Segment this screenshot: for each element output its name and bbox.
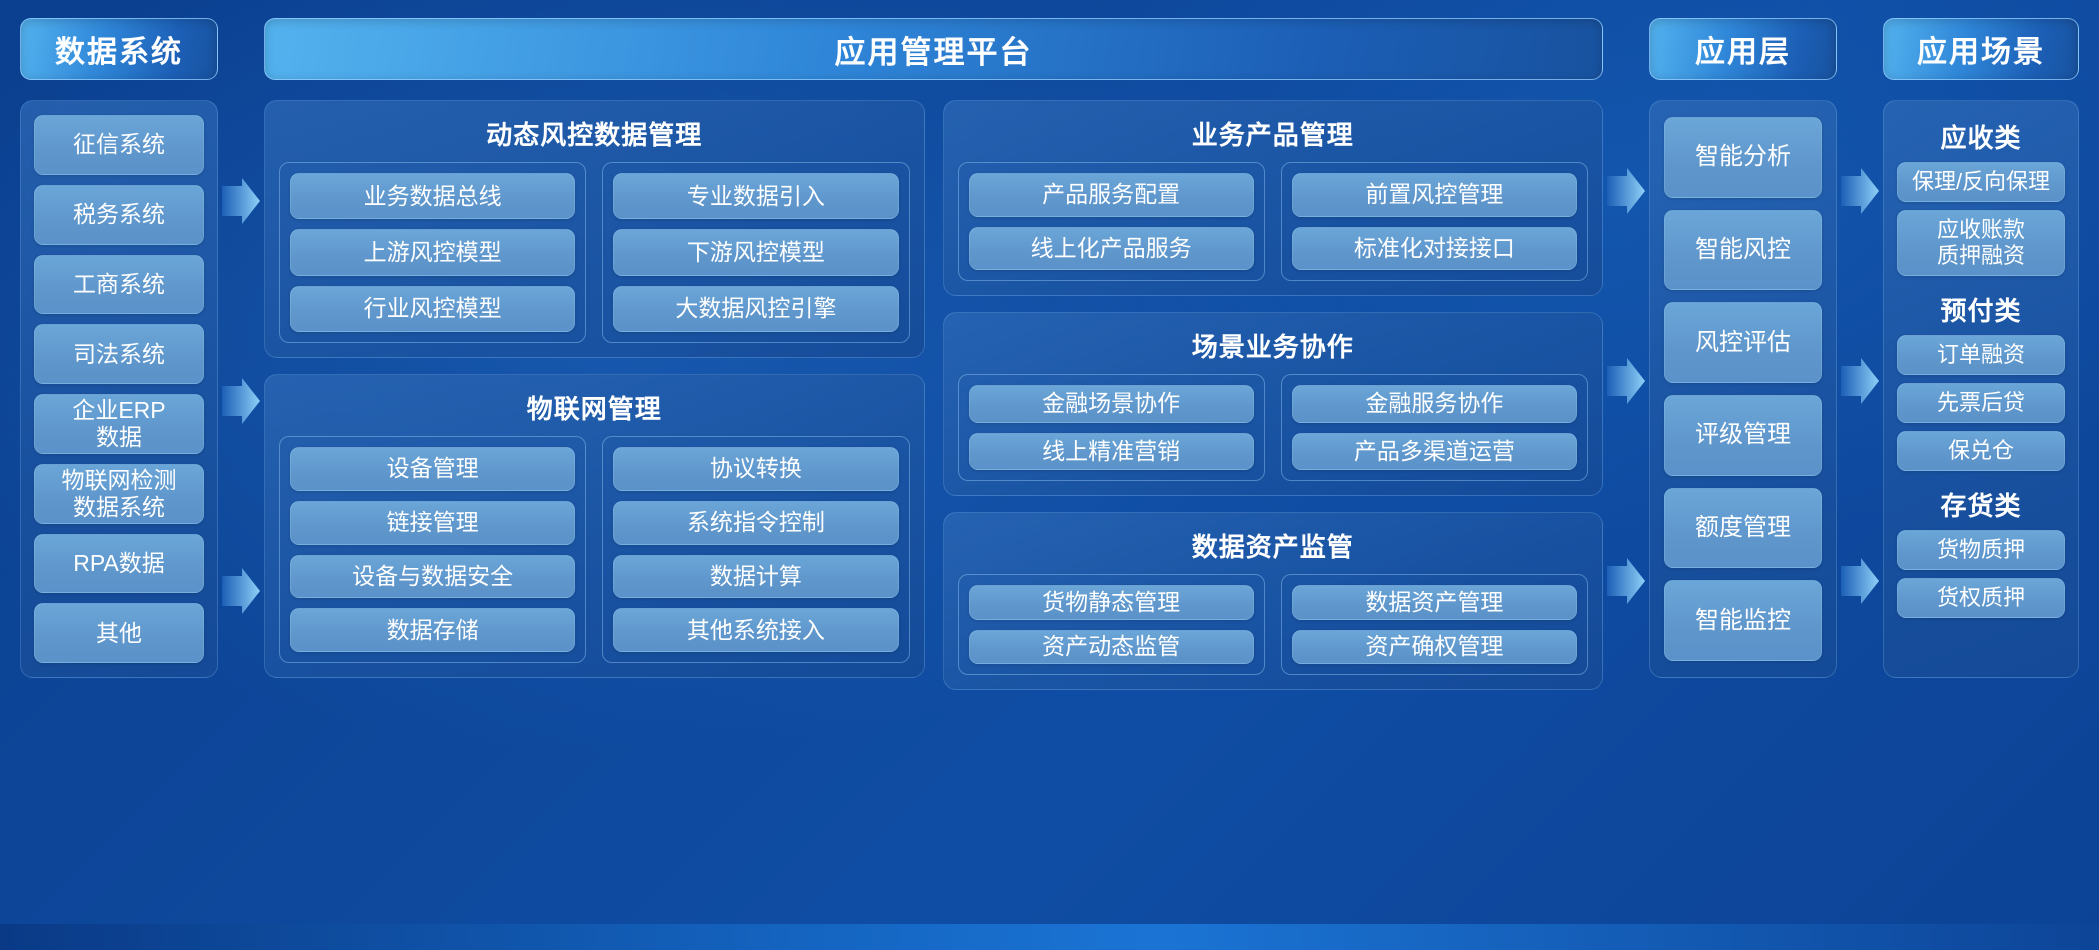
group-subcolumn-right: 专业数据引入 下游风控模型 大数据风控引擎 xyxy=(602,162,909,343)
app-layer-item[interactable]: 智能风控 xyxy=(1664,210,1822,291)
group-title: 数据资产监管 xyxy=(958,523,1589,574)
arrow-group-layer-to-scene xyxy=(1837,18,1883,950)
scene-item[interactable]: 保兑仓 xyxy=(1897,431,2065,471)
platform-item[interactable]: 产品多渠道运营 xyxy=(1292,433,1577,471)
data-system-item[interactable]: RPA数据 xyxy=(34,534,204,594)
group-data-asset-supervision: 数据资产监管 货物静态管理 资产动态监管 数据资产管理 资产确权管理 xyxy=(943,512,1604,690)
data-system-panel: 征信系统 税务系统 工商系统 司法系统 企业ERP数据 物联网检测数据系统 RP… xyxy=(20,100,218,678)
data-system-item[interactable]: 征信系统 xyxy=(34,115,204,175)
app-layer-panel: 智能分析 智能风控 风控评估 评级管理 额度管理 智能监控 xyxy=(1649,100,1837,678)
platform-item[interactable]: 系统指令控制 xyxy=(613,501,898,545)
column-header-platform: 应用管理平台 xyxy=(264,18,1603,80)
group-subcolumn-right: 数据资产管理 资产确权管理 xyxy=(1281,574,1588,675)
platform-item[interactable]: 大数据风控引擎 xyxy=(613,286,898,332)
app-layer-item[interactable]: 风控评估 xyxy=(1664,302,1822,383)
scene-item[interactable]: 先票后贷 xyxy=(1897,383,2065,423)
arrow-right-icon xyxy=(222,378,260,424)
group-subcolumn-left: 产品服务配置 线上化产品服务 xyxy=(958,162,1265,281)
group-subcolumn-left: 金融场景协作 线上精准营销 xyxy=(958,374,1265,481)
platform-left-side: 动态风控数据管理 业务数据总线 上游风控模型 行业风控模型 专业数据引入 下游风… xyxy=(264,100,925,678)
arrow-right-icon xyxy=(1841,558,1879,604)
platform-item[interactable]: 标准化对接接口 xyxy=(1292,227,1577,271)
group-subcolumn-left: 业务数据总线 上游风控模型 行业风控模型 xyxy=(279,162,586,343)
platform-item[interactable]: 业务数据总线 xyxy=(290,173,575,219)
platform-item[interactable]: 数据计算 xyxy=(613,555,898,599)
platform-item[interactable]: 金融服务协作 xyxy=(1292,385,1577,423)
scene-item[interactable]: 订单融资 xyxy=(1897,335,2065,375)
platform-item[interactable]: 设备管理 xyxy=(290,447,575,491)
scene-item[interactable]: 应收账款质押融资 xyxy=(1897,210,2065,276)
data-system-item[interactable]: 物联网检测数据系统 xyxy=(34,464,204,524)
app-scene-panel: 应收类 保理/反向保理 应收账款质押融资 预付类 订单融资 先票后贷 保兑仓 存… xyxy=(1883,100,2079,678)
app-layer-item[interactable]: 评级管理 xyxy=(1664,395,1822,476)
arrow-right-icon xyxy=(1607,168,1645,214)
data-system-item[interactable]: 企业ERP数据 xyxy=(34,394,204,454)
scene-item[interactable]: 保理/反向保理 xyxy=(1897,162,2065,202)
column-app-layer: 应用层 智能分析 智能风控 风控评估 评级管理 额度管理 智能监控 xyxy=(1649,18,1837,678)
group-dynamic-risk-data: 动态风控数据管理 业务数据总线 上游风控模型 行业风控模型 专业数据引入 下游风… xyxy=(264,100,925,358)
data-system-item[interactable]: 工商系统 xyxy=(34,255,204,315)
platform-item[interactable]: 链接管理 xyxy=(290,501,575,545)
scene-group-inventory: 存货类 货物质押 货权质押 xyxy=(1897,477,2065,618)
column-header-data-system: 数据系统 xyxy=(20,18,218,80)
platform-item[interactable]: 数据存储 xyxy=(290,608,575,652)
group-subcolumn-left: 货物静态管理 资产动态监管 xyxy=(958,574,1265,675)
column-header-app-scene: 应用场景 xyxy=(1883,18,2079,80)
scene-group-prepaid: 预付类 订单融资 先票后贷 保兑仓 xyxy=(1897,282,2065,471)
platform-item[interactable]: 资产动态监管 xyxy=(969,630,1254,665)
platform-item[interactable]: 设备与数据安全 xyxy=(290,555,575,599)
app-layer-item[interactable]: 额度管理 xyxy=(1664,488,1822,569)
arrow-right-icon xyxy=(1841,358,1879,404)
scene-group-receivable: 应收类 保理/反向保理 应收账款质押融资 xyxy=(1897,109,2065,276)
data-system-item[interactable]: 税务系统 xyxy=(34,185,204,245)
data-system-item[interactable]: 司法系统 xyxy=(34,324,204,384)
arrow-right-icon xyxy=(222,178,260,224)
app-layer-item[interactable]: 智能分析 xyxy=(1664,117,1822,198)
arrow-right-icon xyxy=(1607,358,1645,404)
data-system-item[interactable]: 其他 xyxy=(34,603,204,663)
app-layer-item[interactable]: 智能监控 xyxy=(1664,580,1822,661)
platform-item[interactable]: 其他系统接入 xyxy=(613,608,898,652)
scene-group-title: 存货类 xyxy=(1897,477,2065,530)
platform-item[interactable]: 货物静态管理 xyxy=(969,585,1254,620)
platform-item[interactable]: 下游风控模型 xyxy=(613,229,898,275)
platform-item[interactable]: 资产确权管理 xyxy=(1292,630,1577,665)
arrow-right-icon xyxy=(1607,558,1645,604)
platform-item[interactable]: 线上精准营销 xyxy=(969,433,1254,471)
group-subcolumn-right: 协议转换 系统指令控制 数据计算 其他系统接入 xyxy=(602,436,909,663)
group-scene-business-collaboration: 场景业务协作 金融场景协作 线上精准营销 金融服务协作 产品多渠道运营 xyxy=(943,312,1604,496)
group-title: 业务产品管理 xyxy=(958,111,1589,162)
platform-item[interactable]: 数据资产管理 xyxy=(1292,585,1577,620)
group-iot-management: 物联网管理 设备管理 链接管理 设备与数据安全 数据存储 协议转换 系统指令控制… xyxy=(264,374,925,678)
group-subcolumn-left: 设备管理 链接管理 设备与数据安全 数据存储 xyxy=(279,436,586,663)
group-subcolumn-right: 金融服务协作 产品多渠道运营 xyxy=(1281,374,1588,481)
arrow-right-icon xyxy=(222,568,260,614)
architecture-diagram: 数据系统 征信系统 税务系统 工商系统 司法系统 企业ERP数据 物联网检测数据… xyxy=(0,0,2099,950)
platform-item[interactable]: 线上化产品服务 xyxy=(969,227,1254,271)
bottom-accent-strip xyxy=(0,924,2099,950)
column-data-system: 数据系统 征信系统 税务系统 工商系统 司法系统 企业ERP数据 物联网检测数据… xyxy=(20,18,218,678)
group-title: 动态风控数据管理 xyxy=(279,111,910,162)
platform-item[interactable]: 产品服务配置 xyxy=(969,173,1254,217)
column-app-scene: 应用场景 应收类 保理/反向保理 应收账款质押融资 预付类 订单融资 先票后贷 … xyxy=(1883,18,2079,678)
scene-item[interactable]: 货物质押 xyxy=(1897,530,2065,570)
scene-item[interactable]: 货权质押 xyxy=(1897,578,2065,618)
platform-item[interactable]: 专业数据引入 xyxy=(613,173,898,219)
column-platform: 应用管理平台 动态风控数据管理 业务数据总线 上游风控模型 行业风控模型 专业数… xyxy=(264,18,1603,678)
scene-group-title: 预付类 xyxy=(1897,282,2065,335)
platform-item[interactable]: 协议转换 xyxy=(613,447,898,491)
group-business-product-management: 业务产品管理 产品服务配置 线上化产品服务 前置风控管理 标准化对接接口 xyxy=(943,100,1604,296)
column-header-app-layer: 应用层 xyxy=(1649,18,1837,80)
group-title: 场景业务协作 xyxy=(958,323,1589,374)
scene-group-title: 应收类 xyxy=(1897,109,2065,162)
platform-item[interactable]: 金融场景协作 xyxy=(969,385,1254,423)
platform-item[interactable]: 前置风控管理 xyxy=(1292,173,1577,217)
platform-item[interactable]: 行业风控模型 xyxy=(290,286,575,332)
platform-right-side: 业务产品管理 产品服务配置 线上化产品服务 前置风控管理 标准化对接接口 场景业… xyxy=(943,100,1604,678)
arrow-group-data-to-platform xyxy=(218,18,264,950)
group-title: 物联网管理 xyxy=(279,385,910,436)
platform-item[interactable]: 上游风控模型 xyxy=(290,229,575,275)
platform-body: 动态风控数据管理 业务数据总线 上游风控模型 行业风控模型 专业数据引入 下游风… xyxy=(264,100,1603,678)
arrow-group-platform-to-layer xyxy=(1603,18,1649,950)
arrow-right-icon xyxy=(1841,168,1879,214)
group-subcolumn-right: 前置风控管理 标准化对接接口 xyxy=(1281,162,1588,281)
